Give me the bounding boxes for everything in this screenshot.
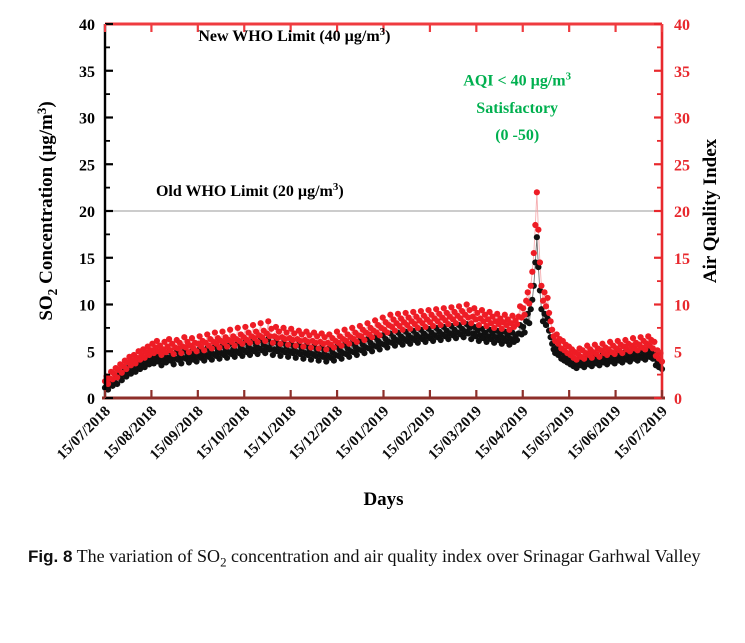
data-point <box>537 259 543 265</box>
data-point <box>531 250 537 256</box>
data-point <box>526 300 532 306</box>
data-point <box>354 352 360 358</box>
data-point <box>399 327 405 333</box>
left-axis-tick-label: 5 <box>87 344 95 361</box>
left-axis-tick-label: 0 <box>87 391 95 408</box>
data-point <box>224 343 230 349</box>
data-point <box>316 345 322 351</box>
data-point <box>546 310 552 316</box>
data-point <box>201 347 207 353</box>
left-axis-tick-label: 20 <box>79 204 95 221</box>
data-point <box>377 332 383 338</box>
data-point <box>255 339 261 345</box>
data-point <box>522 329 528 335</box>
data-point <box>258 320 264 326</box>
data-point <box>520 305 526 311</box>
figure-caption: Fig. 8 The variation of SO2 concentratio… <box>28 545 718 571</box>
data-point <box>369 334 375 340</box>
figure-caption-text: The variation of SO2 concentration and a… <box>77 546 701 566</box>
data-point <box>377 346 383 352</box>
data-point <box>535 227 541 233</box>
data-point <box>346 341 352 347</box>
left-axis-tick-label: 15 <box>79 251 95 268</box>
data-point <box>219 329 225 335</box>
annotation-old-who-limit: Old WHO Limit (20 µg/m3) <box>156 181 344 200</box>
data-point <box>549 327 555 333</box>
data-point <box>323 346 329 352</box>
data-point <box>528 283 534 289</box>
data-point <box>525 289 531 295</box>
data-point <box>193 348 199 354</box>
data-point <box>277 341 283 347</box>
right-axis-tick-label: 5 <box>674 344 682 361</box>
data-point <box>178 360 184 366</box>
right-axis-tick-label: 15 <box>674 251 690 268</box>
figure-container: 0510152025303540051015202530354015/07/20… <box>0 0 745 643</box>
data-point <box>293 343 299 349</box>
data-point <box>354 339 360 345</box>
data-point <box>346 354 352 360</box>
left-axis-tick-label: 40 <box>79 17 95 34</box>
data-point <box>514 321 520 327</box>
right-axis-tick-label: 0 <box>674 391 682 408</box>
data-point <box>453 320 459 326</box>
data-point <box>415 325 421 331</box>
data-point <box>526 320 532 326</box>
right-axis-tick-label: 40 <box>674 17 690 34</box>
data-point <box>300 343 306 349</box>
data-point <box>361 337 367 343</box>
chart-root: 0510152025303540051015202530354015/07/20… <box>34 17 721 510</box>
data-point <box>534 234 540 240</box>
data-point <box>331 358 337 364</box>
data-point <box>212 329 218 335</box>
data-point <box>430 323 436 329</box>
data-point <box>227 327 233 333</box>
data-point <box>285 342 291 348</box>
data-point <box>308 344 314 350</box>
right-axis-tick-label: 25 <box>674 157 690 174</box>
data-point <box>171 361 177 367</box>
data-point <box>270 340 276 346</box>
data-point <box>361 350 367 356</box>
right-axis-tick-label: 10 <box>674 298 690 315</box>
data-point <box>464 301 470 307</box>
data-point <box>247 340 253 346</box>
data-point <box>384 344 390 350</box>
data-point <box>538 283 544 289</box>
data-point <box>407 326 413 332</box>
chart-svg: 0510152025303540051015202530354015/07/20… <box>0 0 745 530</box>
data-point <box>114 374 120 380</box>
data-point <box>520 324 526 330</box>
left-axis-tick-label: 25 <box>79 157 95 174</box>
data-point <box>529 269 535 275</box>
data-point <box>544 295 550 301</box>
data-point <box>541 289 547 295</box>
data-point <box>384 329 390 335</box>
data-point <box>338 356 344 362</box>
data-point <box>438 322 444 328</box>
annotation-aqi-satisfactory: Satisfactory <box>476 100 558 117</box>
left-axis-tick-label: 10 <box>79 298 95 315</box>
data-point <box>392 328 398 334</box>
data-point <box>534 189 540 195</box>
data-point <box>262 338 268 344</box>
data-point <box>369 348 375 354</box>
right-axis-tick-label: 20 <box>674 204 690 221</box>
data-point <box>543 303 549 309</box>
data-point <box>232 343 238 349</box>
data-point <box>445 321 451 327</box>
data-point <box>528 306 534 312</box>
x-axis-title: Days <box>363 489 403 510</box>
data-point <box>242 324 248 330</box>
data-point <box>250 322 256 328</box>
annotation-aqi-threshold: AQI < 40 µg/m3 <box>463 71 571 90</box>
data-point <box>235 325 241 331</box>
annotation-aqi-range: (0 -50) <box>495 127 539 144</box>
annotation-new-who-limit: New WHO Limit (40 µg/m3) <box>198 26 390 45</box>
data-point <box>651 339 657 345</box>
right-axis-tick-label: 30 <box>674 111 690 128</box>
data-point <box>461 319 467 325</box>
right-axis-tick-label: 35 <box>674 64 690 81</box>
right-axis-title: Air Quality Index <box>700 138 721 283</box>
left-axis-title: SO2 Concentration (µg/m3) <box>34 101 60 320</box>
figure-number: Fig. 8 <box>28 547 72 566</box>
left-axis-tick-label: 30 <box>79 111 95 128</box>
data-point <box>522 312 528 318</box>
data-point <box>514 337 520 343</box>
left-axis-tick-label: 35 <box>79 64 95 81</box>
data-point <box>265 318 271 324</box>
data-point <box>209 345 215 351</box>
data-point <box>422 324 428 330</box>
data-point <box>178 350 184 356</box>
data-point <box>338 343 344 349</box>
data-point <box>171 351 177 357</box>
data-point <box>216 344 222 350</box>
data-point <box>548 318 554 324</box>
data-point <box>331 344 337 350</box>
